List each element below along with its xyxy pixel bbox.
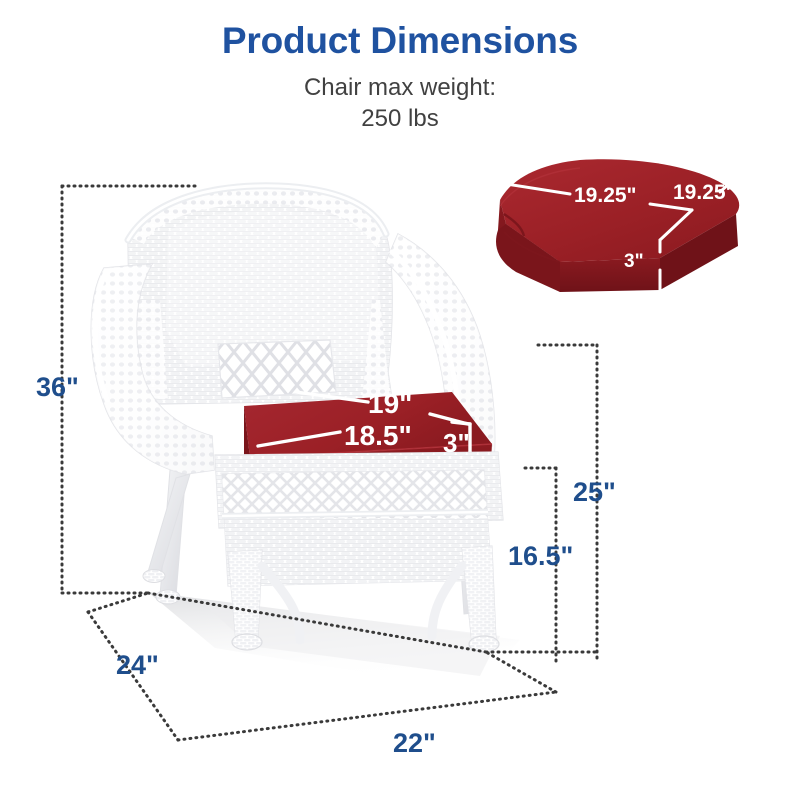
inset-dimension-label-thickness: 3"	[624, 251, 644, 273]
wicker-chair-illustration	[91, 180, 510, 652]
product-dimensions-diagram: Product Dimensions Chair max weight: 250…	[0, 0, 800, 800]
seat-dimension-label-back-width: 19"	[368, 388, 412, 420]
inset-dimension-label-width: 19.25"	[574, 184, 637, 208]
dimension-label-width: 22"	[393, 728, 436, 759]
inset-dimension-label-depth: 19.25"	[673, 181, 736, 205]
chair-back-lattice-panel	[218, 340, 336, 398]
dimension-label-height: 36"	[36, 372, 79, 403]
dimension-label-arm-height: 16.5"	[508, 541, 573, 572]
seat-dimension-label-thickness: 3"	[443, 428, 470, 459]
cushion-inset-illustration	[494, 159, 742, 292]
seat-dimension-label-front-width: 18.5"	[344, 420, 412, 452]
dimension-label-seat-height: 25"	[573, 477, 616, 508]
dimension-label-depth: 24"	[116, 650, 159, 681]
